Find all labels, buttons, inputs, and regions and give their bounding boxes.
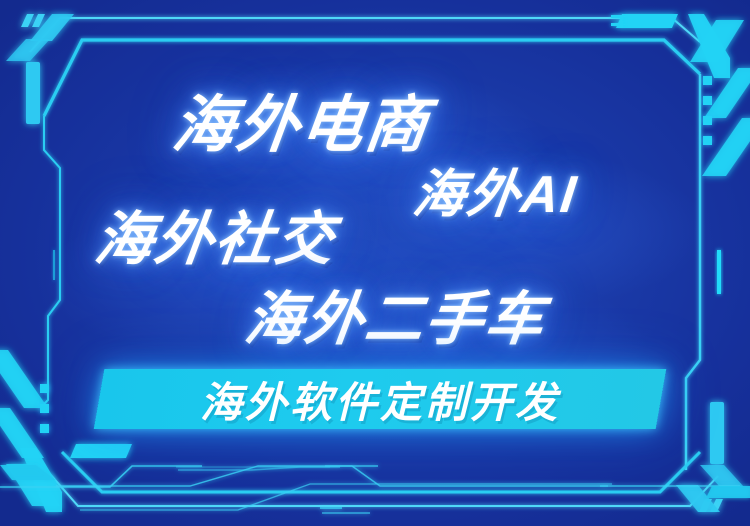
- square-dot: [703, 96, 712, 105]
- headline-overseas-used-cars: 海外二手车: [241, 272, 551, 356]
- tech-banner-poster: 海外电商 海外AI 海外社交 海外二手车 海外软件定制开发: [0, 0, 750, 526]
- square-dot: [40, 424, 49, 433]
- accent-tick-right: [717, 250, 721, 294]
- accent-tick-left: [53, 250, 55, 280]
- headline-overseas-social: 海外社交: [91, 192, 341, 276]
- software-development-banner: 海外软件定制开发: [94, 369, 667, 429]
- headline-overseas-ecommerce: 海外电商: [168, 74, 435, 164]
- square-dot: [40, 404, 49, 413]
- square-dot: [703, 136, 712, 145]
- corner-ornament-top-left: [6, 14, 74, 124]
- square-dot: [40, 384, 49, 393]
- banner-label: 海外软件定制开发: [99, 369, 661, 429]
- corner-ornament-top-right: [616, 14, 750, 176]
- square-dot: [703, 116, 712, 125]
- square-dot: [703, 76, 712, 85]
- headline-overseas-ai: 海外AI: [409, 152, 582, 227]
